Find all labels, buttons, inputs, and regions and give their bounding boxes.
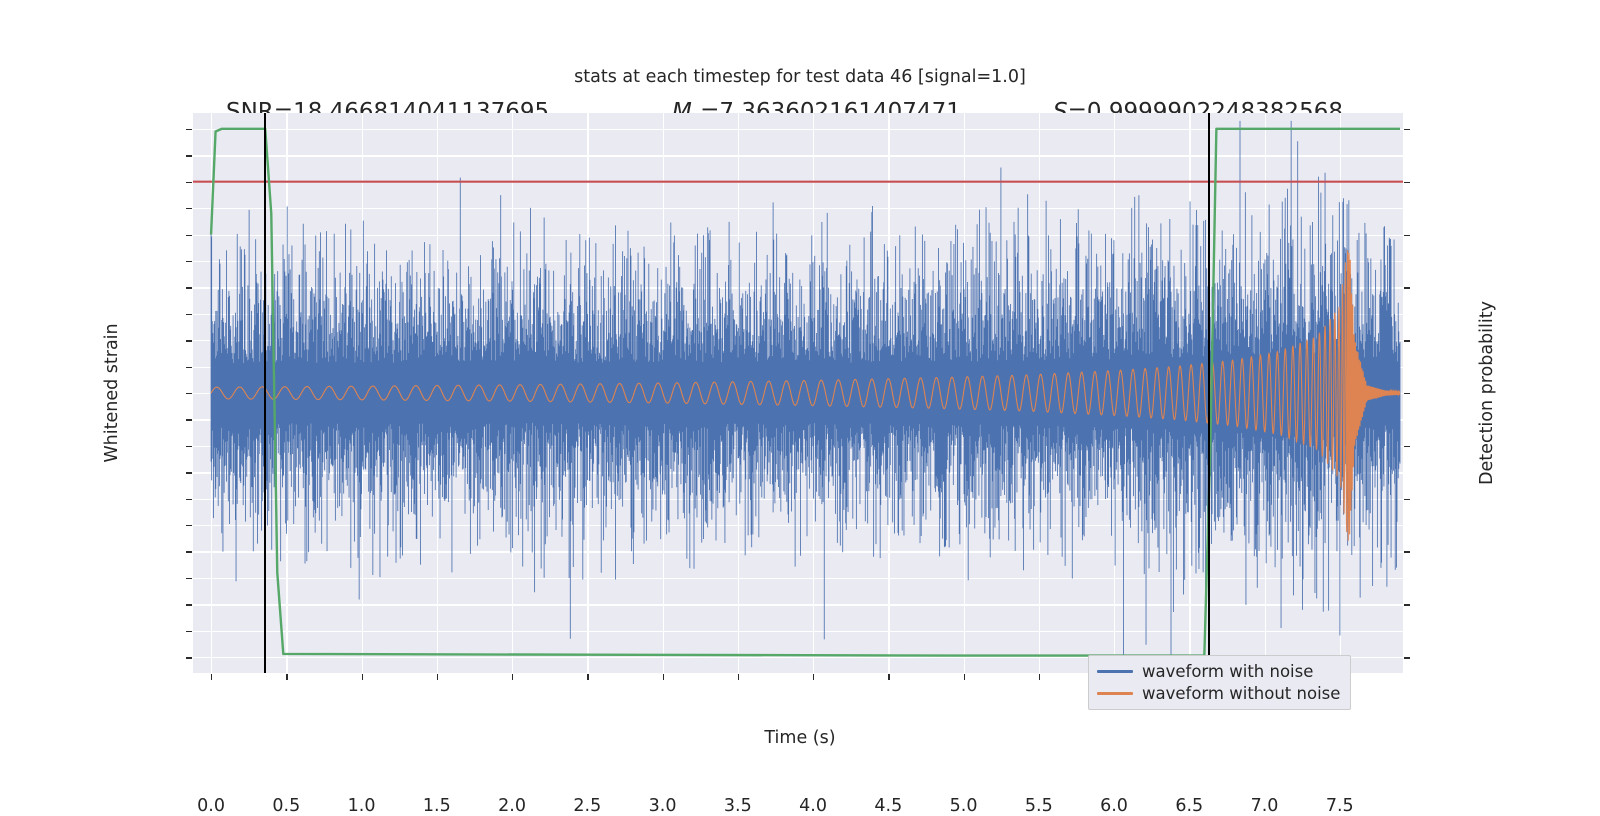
x-tick bbox=[362, 674, 363, 680]
y-tick-right bbox=[1404, 446, 1410, 447]
x-tick bbox=[211, 674, 212, 680]
x-tick bbox=[587, 674, 588, 680]
y-tick-left bbox=[186, 182, 192, 183]
legend-color-swatch bbox=[1097, 692, 1133, 695]
x-tick-label: 1.0 bbox=[348, 796, 376, 816]
y-tick-left bbox=[186, 261, 192, 262]
y-tick-left bbox=[186, 551, 192, 552]
y-tick-left bbox=[186, 208, 192, 209]
x-tick-label: 1.5 bbox=[423, 796, 451, 816]
y-tick-left bbox=[186, 578, 192, 579]
y-tick-left bbox=[186, 604, 192, 605]
axis-ticks: −1.0−0.9−0.8−0.7−0.6−0.5−0.4−0.3−0.2−0.1… bbox=[193, 113, 1403, 673]
x-tick bbox=[888, 674, 889, 680]
x-tick-label: 4.5 bbox=[874, 796, 902, 816]
y-tick-left bbox=[186, 129, 192, 130]
y-axis-title-left: Whitened strain bbox=[102, 323, 122, 462]
x-tick-label: 5.0 bbox=[950, 796, 978, 816]
x-tick bbox=[813, 674, 814, 680]
legend-item[interactable]: waveform without noise bbox=[1097, 684, 1340, 703]
y-tick-left bbox=[186, 235, 192, 236]
x-axis-title: Time (s) bbox=[0, 728, 1600, 748]
y-tick-right bbox=[1404, 182, 1410, 183]
y-tick-right bbox=[1404, 340, 1410, 341]
y-tick-left bbox=[186, 314, 192, 315]
y-tick-right bbox=[1404, 235, 1410, 236]
x-tick-label: 4.0 bbox=[799, 796, 827, 816]
y-tick-right bbox=[1404, 499, 1410, 500]
x-tick-label: 7.5 bbox=[1326, 796, 1354, 816]
y-tick-left bbox=[186, 657, 192, 658]
y-tick-left bbox=[186, 631, 192, 632]
x-tick-label: 2.5 bbox=[573, 796, 601, 816]
x-tick-label: 7.0 bbox=[1251, 796, 1279, 816]
x-tick bbox=[964, 674, 965, 680]
y-tick-right bbox=[1404, 657, 1410, 658]
x-tick-label: 3.5 bbox=[724, 796, 752, 816]
y-tick-left bbox=[186, 340, 192, 341]
y-tick-left bbox=[186, 472, 192, 473]
y-tick-right bbox=[1404, 551, 1410, 552]
figure-canvas: stats at each timestep for test data 46 … bbox=[0, 0, 1600, 800]
y-tick-right bbox=[1404, 604, 1410, 605]
x-tick bbox=[437, 674, 438, 680]
y-tick-left bbox=[186, 155, 192, 156]
chart-title: stats at each timestep for test data 46 … bbox=[0, 67, 1600, 87]
y-tick-right bbox=[1404, 129, 1410, 130]
y-tick-left bbox=[186, 499, 192, 500]
y-tick-left bbox=[186, 419, 192, 420]
x-tick-label: 3.0 bbox=[649, 796, 677, 816]
x-tick-label: 0.0 bbox=[197, 796, 225, 816]
x-tick-label: 6.5 bbox=[1175, 796, 1203, 816]
x-tick-label: 2.0 bbox=[498, 796, 526, 816]
y-tick-left bbox=[186, 446, 192, 447]
x-tick-label: 0.5 bbox=[272, 796, 300, 816]
legend-color-swatch bbox=[1097, 670, 1133, 673]
x-tick bbox=[1039, 674, 1040, 680]
chart-legend[interactable]: waveform with noisewaveform without nois… bbox=[1088, 655, 1351, 710]
y-tick-right bbox=[1404, 393, 1410, 394]
y-tick-left bbox=[186, 367, 192, 368]
legend-label: waveform without noise bbox=[1142, 684, 1340, 703]
y-tick-left bbox=[186, 287, 192, 288]
y-tick-left bbox=[186, 393, 192, 394]
x-tick-label: 6.0 bbox=[1100, 796, 1128, 816]
x-tick bbox=[738, 674, 739, 680]
legend-label: waveform with noise bbox=[1142, 662, 1313, 681]
x-tick-label: 5.5 bbox=[1025, 796, 1053, 816]
y-tick-left bbox=[186, 525, 192, 526]
x-tick bbox=[512, 674, 513, 680]
y-axis-title-right: Detection probability bbox=[1477, 301, 1497, 485]
x-tick bbox=[663, 674, 664, 680]
x-tick bbox=[286, 674, 287, 680]
legend-item[interactable]: waveform with noise bbox=[1097, 662, 1340, 681]
y-tick-right bbox=[1404, 287, 1410, 288]
